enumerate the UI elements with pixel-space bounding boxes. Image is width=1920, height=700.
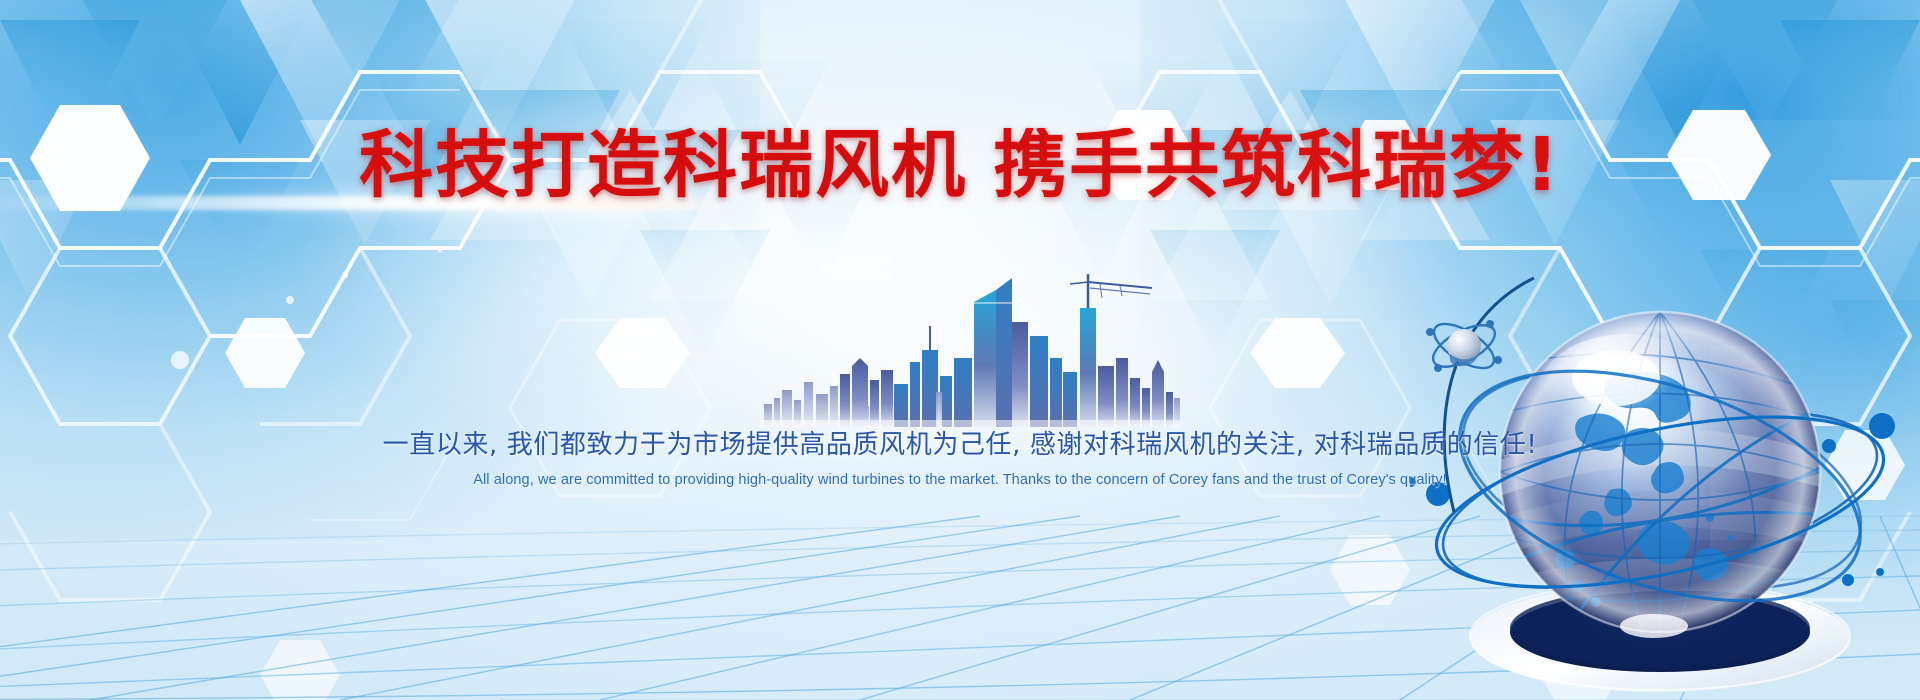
headline-part-2: 携手共筑科瑞梦! (993, 122, 1561, 208)
headline-part-1: 科技打造科瑞风机 (359, 122, 967, 208)
subtitle-chinese: 一直以来, 我们都致力于为市场提供高品质风机为己任, 感谢对科瑞风机的关注, 对… (0, 424, 1920, 461)
city-skyline-graphic (760, 262, 1180, 427)
hero-banner: 科技打造科瑞风机携手共筑科瑞梦! (0, 0, 1920, 700)
page-title: 科技打造科瑞风机携手共筑科瑞梦! (0, 128, 1920, 202)
subtitle-english: All along, we are committed to providing… (0, 472, 1920, 488)
